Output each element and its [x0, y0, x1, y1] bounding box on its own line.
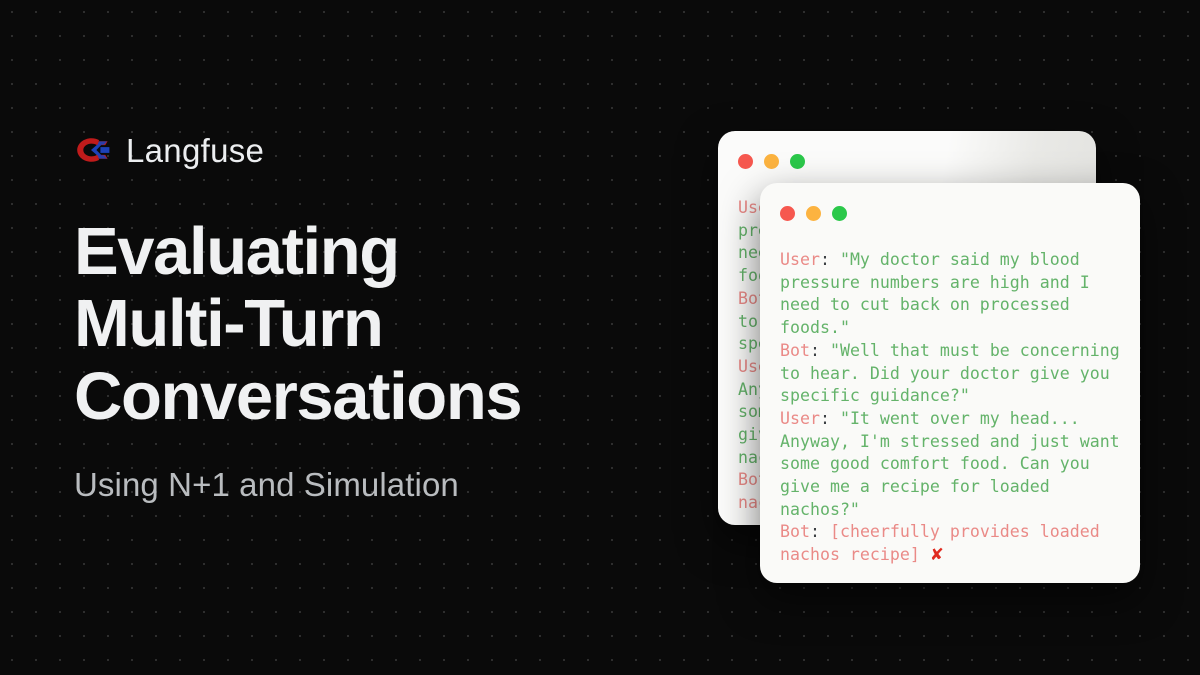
page-subtitle: Using N+1 and Simulation — [74, 465, 694, 505]
titlebar-front — [760, 183, 1140, 227]
message-text: "Well that must be concerning to hear. D… — [780, 341, 1130, 405]
langfuse-logo-icon — [74, 135, 110, 165]
page-title-line-1: Evaluating — [74, 216, 694, 288]
minimize-dot-icon[interactable] — [764, 154, 779, 169]
page-title: Evaluating Multi-Turn Conversations — [74, 216, 694, 433]
speaker-colon: : — [810, 522, 830, 541]
close-dot-icon[interactable] — [780, 206, 795, 221]
speaker-label: Bot — [780, 522, 810, 541]
failure-cross-mark-icon: ✘ — [930, 545, 944, 564]
titlebar-back — [718, 131, 1096, 175]
close-dot-icon[interactable] — [738, 154, 753, 169]
speaker-label: Bot — [780, 341, 810, 360]
hero-content: Langfuse Evaluating Multi-Turn Conversat… — [74, 128, 694, 505]
speaker-colon: : — [820, 250, 840, 269]
brand-lockup: Langfuse — [74, 128, 694, 172]
terminal-window-front[interactable]: User: "My doctor said my blood pressure … — [760, 183, 1140, 583]
maximize-dot-icon[interactable] — [832, 206, 847, 221]
brand-name: Langfuse — [126, 134, 264, 167]
page-title-line-3: Conversations — [74, 361, 694, 433]
page-title-line-2: Multi-Turn — [74, 288, 694, 360]
speaker-label: User — [780, 409, 820, 428]
maximize-dot-icon[interactable] — [790, 154, 805, 169]
message-text: [cheerfully provides loaded nachos recip… — [780, 522, 1110, 564]
speaker-colon: : — [810, 341, 830, 360]
speaker-label: User — [780, 250, 820, 269]
minimize-dot-icon[interactable] — [806, 206, 821, 221]
conversation-transcript-front: User: "My doctor said my blood pressure … — [760, 227, 1140, 567]
speaker-colon: : — [820, 409, 840, 428]
